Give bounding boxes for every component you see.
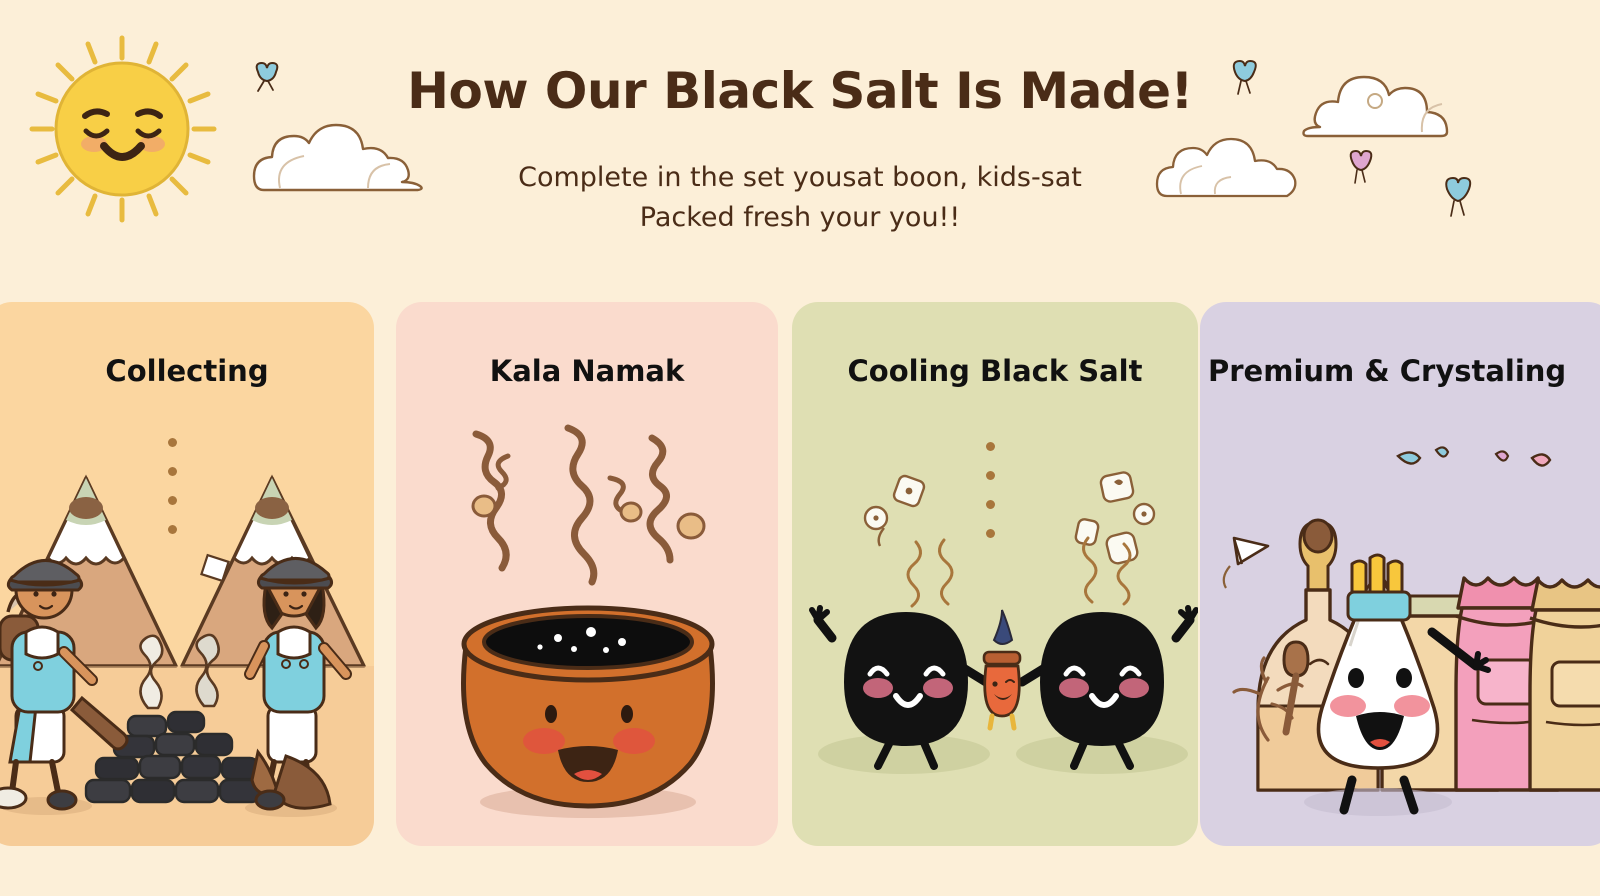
step-card-cooling-black-salt[interactable]: Cooling Black Salt [792,302,1198,846]
step-card-title: Kala Namak [396,354,778,388]
subtitle-line-2: Packed fresh your you!! [0,198,1600,238]
collecting-illustration [0,416,374,846]
page-header: How Our Black Salt Is Made! Complete in … [0,0,1600,302]
kala-namak-illustration [396,416,778,846]
cooling-illustration [792,416,1198,846]
step-card-kala-namak[interactable]: Kala Namak [396,302,778,846]
process-steps-row: Collecting [0,302,1600,846]
premium-illustration [1200,416,1600,846]
page-title: How Our Black Salt Is Made! [0,62,1600,120]
step-card-collecting[interactable]: Collecting [0,302,374,846]
step-card-title: Collecting [0,354,374,388]
page-subtitle: Complete in the set yousat boon, kids-sa… [0,158,1600,238]
step-card-premium-crystaling[interactable]: Premium & Crystaling [1200,302,1600,846]
subtitle-line-1: Complete in the set yousat boon, kids-sa… [0,158,1600,198]
step-card-title: Premium & Crystaling [1200,354,1600,388]
step-card-title: Cooling Black Salt [792,354,1198,388]
